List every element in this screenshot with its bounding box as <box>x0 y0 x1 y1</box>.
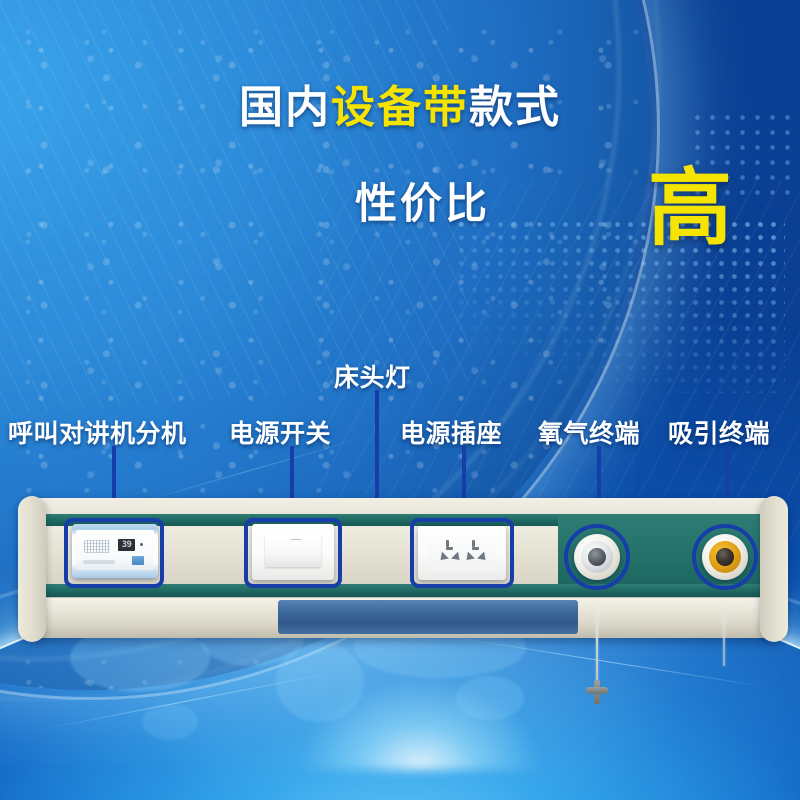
highlight-box-power-switch <box>244 518 342 588</box>
callout-label-bed-head-lamp: 床头灯 <box>334 358 411 394</box>
callout-label-oxygen-terminal: 氧气终端 <box>538 414 640 450</box>
emphasis-word: 高 <box>648 141 732 262</box>
callout-label-suction-terminal: 吸引终端 <box>668 414 770 450</box>
oxygen-terminal-cord <box>596 608 598 686</box>
headline-line-2-row: 性价比 高 <box>0 165 800 235</box>
promo-image-canvas: 国内设备带款式 性价比 高 呼叫对讲机分机 电源开关 床头灯 电源插座 氧气终端… <box>0 0 800 800</box>
headline-line-2: 性价比 <box>355 170 490 231</box>
halftone-dot-pattern <box>455 218 785 393</box>
highlight-circle-oxygen <box>564 524 630 590</box>
headline-segment-1: 国内 <box>239 83 331 132</box>
suction-terminal-cord <box>723 608 725 666</box>
cord-weight-horizontal <box>586 687 608 694</box>
highlight-circle-suction <box>692 524 758 590</box>
callout-label-nurse-call-intercom: 呼叫对讲机分机 <box>8 414 187 450</box>
headline-segment-2: 设备带 <box>331 83 469 132</box>
callout-label-power-switch: 电源开关 <box>229 414 331 450</box>
callout-label-power-socket: 电源插座 <box>400 414 502 450</box>
headline-segment-3: 款式 <box>469 83 561 132</box>
highlight-box-power-socket <box>410 518 514 588</box>
highlight-box-intercom <box>64 518 164 588</box>
bottom-glow-core <box>300 680 540 770</box>
cord-weight-cross-icon <box>586 680 608 704</box>
panel-end-cap-left <box>18 496 46 642</box>
panel-end-cap-right <box>760 496 788 642</box>
bed-head-lamp-diffuser <box>278 600 578 634</box>
headline-line-1: 国内设备带款式 <box>0 86 800 130</box>
